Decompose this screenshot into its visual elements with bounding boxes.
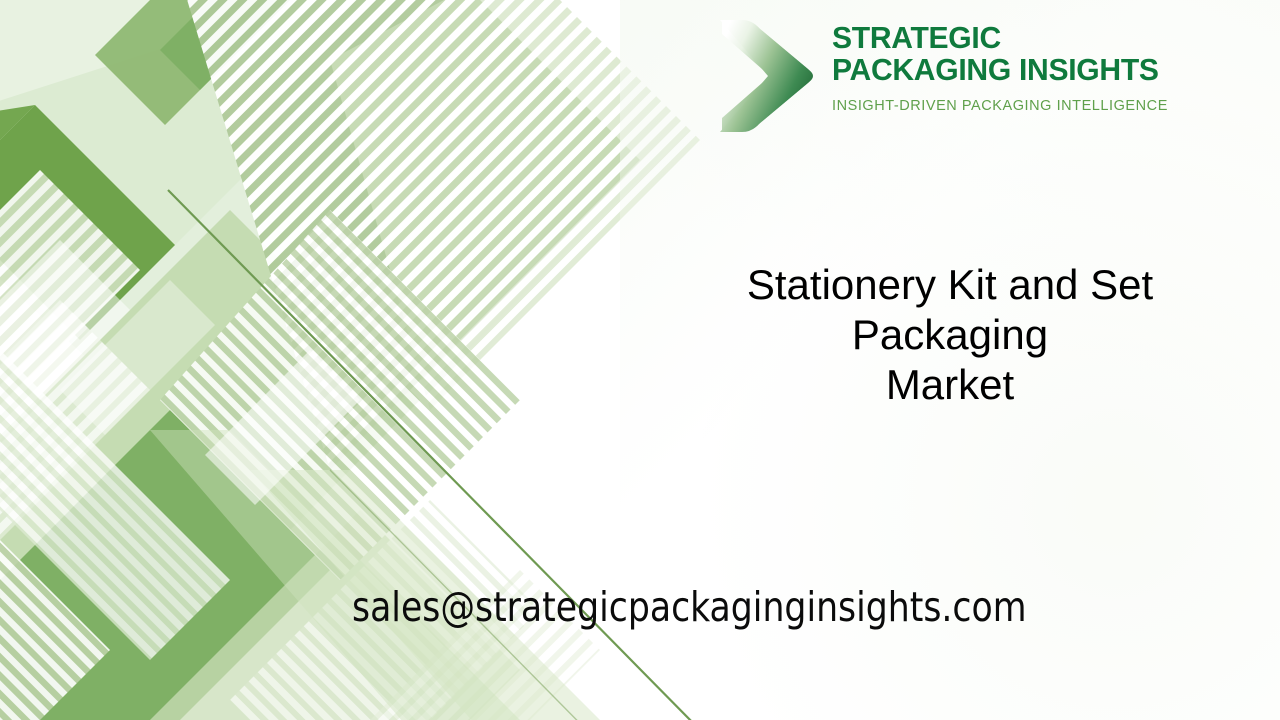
brand-logo: STRATEGIC PACKAGING INSIGHTS INSIGHT-DRI…	[712, 14, 1217, 138]
page-title: Stationery Kit and Set Packaging Market	[640, 260, 1260, 410]
slide-canvas: STRATEGIC PACKAGING INSIGHTS INSIGHT-DRI…	[0, 0, 1280, 720]
page-title-line-1: Stationery Kit and Set	[640, 260, 1260, 310]
brand-name-line-1: STRATEGIC	[832, 22, 1205, 54]
brand-name-line-2: PACKAGING INSIGHTS	[832, 54, 1205, 86]
brand-logo-text: STRATEGIC PACKAGING INSIGHTS INSIGHT-DRI…	[824, 14, 1217, 138]
contact-email[interactable]: sales@strategicpackaginginsights.com	[352, 580, 1142, 634]
brand-tagline: INSIGHT-DRIVEN PACKAGING INTELLIGENCE	[832, 98, 1217, 114]
page-title-line-2: Packaging	[640, 310, 1260, 360]
page-title-line-3: Market	[640, 360, 1260, 410]
chevron-right-gradient-icon	[712, 14, 824, 138]
